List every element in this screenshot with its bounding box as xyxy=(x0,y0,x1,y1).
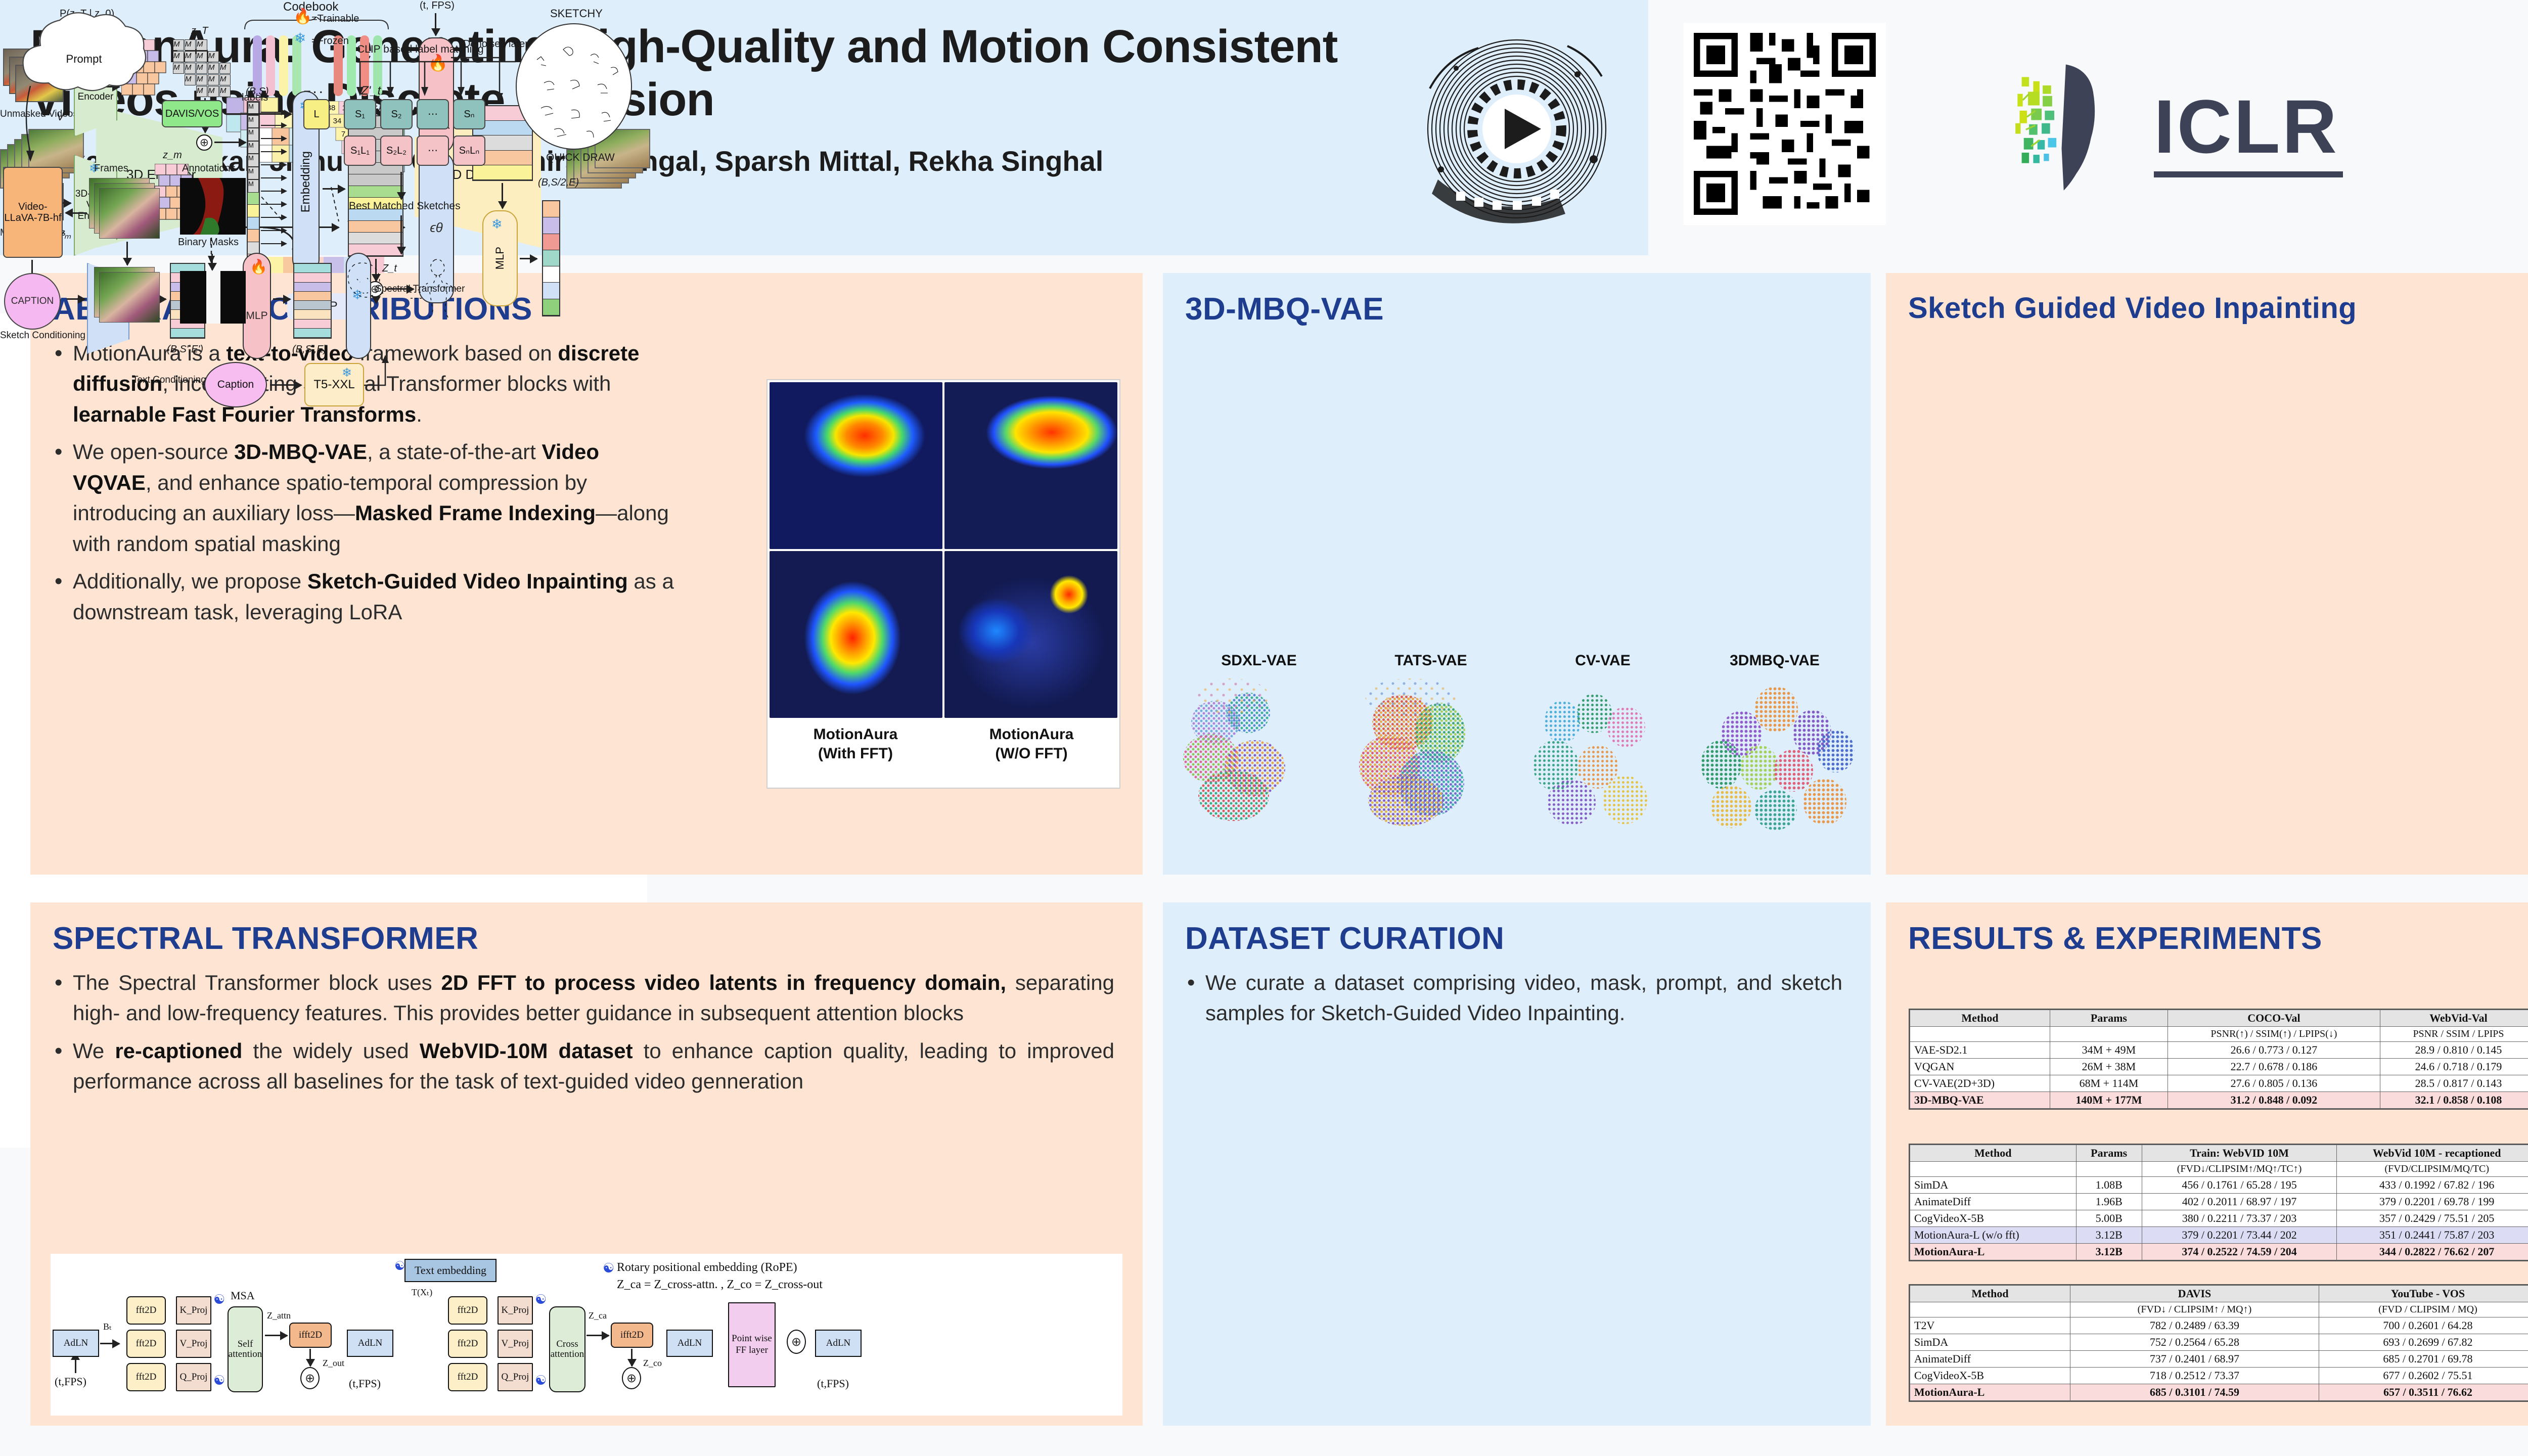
clip-matching-fanout xyxy=(354,57,521,98)
cell-davis: 782 / 0.2489 / 63.39 xyxy=(2070,1317,2319,1334)
cell-webvid: 28.5 / 0.817 / 0.143 xyxy=(2380,1075,2528,1092)
svg-text:34: 34 xyxy=(333,117,342,125)
qr-code-panel[interactable] xyxy=(1684,23,1886,225)
flame-icon: 🔥 xyxy=(293,9,312,24)
best-matched-label: Best Matched Sketches xyxy=(349,200,461,212)
quickdraw-label: QUICK DRAW xyxy=(546,152,615,164)
t-fps-arrow xyxy=(435,13,436,35)
sketch-node-sn: Sₙ xyxy=(453,99,485,129)
frame-thumb xyxy=(99,188,160,239)
col-webvid-val: WebVid-Val xyxy=(2380,1010,2528,1027)
bt-label: Bₜ xyxy=(103,1322,112,1332)
results-title: RESULTS & EXPERIMENTS xyxy=(1908,921,2528,957)
cell-train: 380 / 0.2211 / 73.37 / 203 xyxy=(2142,1210,2337,1227)
metric-coco: PSNR(↑) / SSIM(↑) / LPIPS(↓) xyxy=(2168,1027,2380,1042)
t5-xxl-block: T5-XXL xyxy=(304,363,364,406)
text-conditioning-label: Text Conditioning xyxy=(132,374,198,387)
cell-davis: 718 / 0.2512 / 73.37 xyxy=(2070,1368,2319,1384)
best-match-arrow xyxy=(400,215,402,254)
flame-icon: 🔥 xyxy=(250,260,267,274)
col-params: Params xyxy=(2076,1145,2142,1162)
panel-abstract: ABSTRACT & CONTRIBUTIONS MotionAura is a… xyxy=(30,273,1143,875)
flow-arrow xyxy=(309,1349,311,1366)
spectral-bullet: The Spectral Transformer block uses 2D F… xyxy=(53,968,1114,1029)
cell-method: AnimateDiff xyxy=(1910,1194,2076,1210)
annotations-label: Annotations xyxy=(182,163,236,174)
add-operator: ⊕ xyxy=(196,134,212,151)
z-ca-label: Z_ca xyxy=(589,1310,607,1321)
cell-method: CogVideoX-5B xyxy=(1910,1368,2070,1384)
spectral-transformer-diagram: (t,FPS) AdLN Bₜ fft2D fft2D fft2D K_Proj… xyxy=(51,1254,1122,1416)
frozen-legend-label: =Frozen xyxy=(311,35,349,47)
heatmap-caption-right: MotionAura(W/O FFT) xyxy=(943,720,1119,769)
cell-recap: 344 / 0.2822 / 76.62 / 207 xyxy=(2337,1244,2528,1260)
cell-train: 374 / 0.2522 / 74.59 / 204 xyxy=(2142,1244,2337,1260)
tsne-scatter-cvvae xyxy=(1522,669,1684,836)
caption-node: Caption xyxy=(204,362,267,407)
dataset-title: DATASET CURATION xyxy=(1185,921,1848,957)
table-row: MotionAura-L (w/o fft)3.12B379 / 0.2201 … xyxy=(1910,1227,2528,1244)
dataset-bullet: We curate a dataset comprising video, ma… xyxy=(1185,968,1842,1029)
flow-arrow xyxy=(273,298,290,300)
abstract-bullet: We open-source 3D-MBQ-VAE, a state-of-th… xyxy=(53,437,680,559)
k-proj-block: K_Proj xyxy=(498,1296,533,1325)
metric-blank xyxy=(1910,1302,2070,1317)
embedding-fan-arrows xyxy=(261,104,290,266)
tsne-panel-label: SDXL-VAE xyxy=(1178,652,1340,669)
cell-method: VQGAN xyxy=(1910,1059,2050,1075)
prompt-to-llava-arrow xyxy=(18,86,59,167)
z-co-label: Z_co xyxy=(643,1358,662,1369)
cell-recap: 351 / 0.2441 / 75.87 / 203 xyxy=(2337,1227,2528,1244)
cell-method: T2V xyxy=(1910,1317,2070,1334)
add-operator: ⊕ xyxy=(622,1367,641,1389)
add-operator: ⊕ xyxy=(787,1330,806,1354)
t-fps-label: (t,FPS) xyxy=(817,1377,849,1390)
fft2d-block: fft2D xyxy=(448,1296,487,1325)
t-fps-label: (t, FPS) xyxy=(420,0,455,12)
annotation-mask xyxy=(180,178,246,235)
clip-matching-label: CLIP based label matching xyxy=(357,43,484,56)
matched-node-snln: SₙLₙ xyxy=(453,135,485,166)
table-row: CV-VAE(2D+3D)68M + 114M27.6 / 0.805 / 0.… xyxy=(1910,1075,2528,1092)
rope-icon: ☯ xyxy=(394,1259,405,1273)
cell-recap: 379 / 0.2201 / 69.78 / 199 xyxy=(2337,1194,2528,1210)
panel-dataset-curation: DATASET CURATION We curate a dataset com… xyxy=(1163,902,1871,1426)
cell-method: CV-VAE(2D+3D) xyxy=(1910,1075,2050,1092)
flow-arrow xyxy=(265,1335,287,1336)
pointwise-ff-block: Point wise FF layer xyxy=(728,1302,776,1387)
vae-title: 3D-MBQ-VAE xyxy=(1185,291,1848,327)
tsne-comparison-row: SDXL-VAE TATS-VAE CV-VAE xyxy=(1178,652,1861,870)
col-params: Params xyxy=(2050,1010,2168,1027)
cell-webvid: 24.6 / 0.718 / 0.179 xyxy=(2380,1059,2528,1075)
to-mlp-arrow xyxy=(502,183,503,208)
table-row: MotionAura-L685 / 0.3101 / 74.59657 / 0.… xyxy=(1910,1384,2528,1401)
rope-legend-label: Rotary positional embedding (RoPE) xyxy=(617,1261,797,1275)
col-coco-val: COCO-Val xyxy=(2168,1010,2380,1027)
v-proj-block: V_Proj xyxy=(498,1330,533,1358)
flow-arrow xyxy=(100,1343,119,1344)
sketch-node-s2: S₂ xyxy=(380,99,413,129)
z-out-label: Z_out xyxy=(323,1358,344,1369)
k-proj-block: K_Proj xyxy=(176,1296,211,1325)
metric-recap: (FVD/CLIPSIM/MQ/TC) xyxy=(2337,1162,2528,1177)
caption-node: CAPTION xyxy=(4,273,61,330)
best-match-arrow xyxy=(400,172,402,199)
col-method: Method xyxy=(1910,1010,2050,1027)
metric-blank xyxy=(1910,1162,2076,1177)
cell-method: AnimateDiff xyxy=(1910,1351,2070,1368)
col-davis: DAVIS xyxy=(2070,1286,2319,1302)
col-webvid-recap: WebVid 10M - recaptioned xyxy=(2337,1145,2528,1162)
self-attention-block: Self attention xyxy=(228,1306,263,1392)
trainable-legend-label: =Trainable xyxy=(311,13,359,25)
binary-mask-image xyxy=(180,271,246,324)
heatmap-cell-object-with-fft xyxy=(770,551,942,718)
sketch-title: Sketch Guided Video Inpainting xyxy=(1908,291,2528,325)
rope-icon: ☯ xyxy=(603,1261,614,1276)
fft2d-block: fft2D xyxy=(126,1296,166,1325)
cell-method: MotionAura-L xyxy=(1910,1244,2076,1260)
snowflake-icon: ❄ xyxy=(491,217,503,231)
results-table-inpainting: Method DAVIS YouTube - VOS (FVD↓ / CLIPS… xyxy=(1909,1284,2528,1402)
snowflake-icon: ❄ xyxy=(294,31,306,45)
cell-params: 68M + 114M xyxy=(2050,1075,2168,1092)
rope-icon: ☯ xyxy=(213,1373,225,1388)
fft2d-block: fft2D xyxy=(126,1363,166,1391)
heatmap-caption-left: MotionAura(With FFT) xyxy=(768,720,943,769)
bs2e-shape-label: (B,S/2,E) xyxy=(538,177,579,189)
cell-params: 1.96B xyxy=(2076,1194,2142,1210)
cell-params: 3.12B xyxy=(2076,1227,2142,1244)
tsne-panel-label: CV-VAE xyxy=(1522,652,1684,669)
text-embedding-block: Text embedding xyxy=(404,1259,496,1282)
video-llava-block: Video-LLaVA-7B-hf xyxy=(3,167,63,258)
table-row: SimDA752 / 0.2564 / 65.28693 / 0.2699 / … xyxy=(1910,1334,2528,1351)
matched-node-ellipsis: ⋯ xyxy=(417,135,449,166)
results-table-vae: Method Params COCO-Val WebVid-Val PSNR(↑… xyxy=(1909,1009,2528,1110)
t5-to-spectral-arrow xyxy=(362,354,397,389)
metric-blank xyxy=(2050,1027,2168,1042)
cell-train: 379 / 0.2201 / 73.44 / 202 xyxy=(2142,1227,2337,1244)
table2-body: SimDA1.08B456 / 0.1761 / 65.28 / 195433 … xyxy=(1910,1177,2528,1260)
ifft2d-block: ifft2D xyxy=(611,1323,653,1348)
table3-body: T2V782 / 0.2489 / 63.39700 / 0.2601 / 64… xyxy=(1910,1317,2528,1401)
cell-method: MotionAura-L xyxy=(1910,1384,2070,1401)
binary-masks-label: Binary Masks xyxy=(178,237,239,248)
metric-train: (FVD↓/CLIPSIM↑/MQ↑/TC↑) xyxy=(2142,1162,2337,1177)
sketch-node-ellipsis: ⋯ xyxy=(417,99,449,129)
metric-ytvos: (FVD / CLIPSIM / MQ) xyxy=(2319,1302,2528,1317)
labels-arrow xyxy=(225,113,291,115)
table-header-row: Method DAVIS YouTube - VOS xyxy=(1910,1286,2528,1302)
t-fps-label: (t,FPS) xyxy=(55,1375,86,1388)
cell-params: 26M + 38M xyxy=(2050,1059,2168,1075)
add-operator: ⊕ xyxy=(300,1367,320,1389)
fft2d-block: fft2D xyxy=(448,1363,487,1391)
heatmap-cell-dog-with-fft xyxy=(770,382,942,549)
sketch-conditioning-label: Sketch Conditioning xyxy=(0,330,66,342)
flow-arrow xyxy=(270,384,301,386)
tsne-scatter-sdxl xyxy=(1178,669,1340,836)
table-row: MotionAura-L3.12B374 / 0.2522 / 74.59 / … xyxy=(1910,1244,2528,1260)
cell-webvid: 28.9 / 0.810 / 0.145 xyxy=(2380,1042,2528,1059)
cell-ytvos: 693 / 0.2699 / 67.82 xyxy=(2319,1334,2528,1351)
cell-davis: 752 / 0.2564 / 65.28 xyxy=(2070,1334,2319,1351)
q-proj-block: Q_Proj xyxy=(176,1363,211,1391)
embedding-label: Embedding xyxy=(299,151,313,212)
table-row: T2V782 / 0.2489 / 63.39700 / 0.2601 / 64… xyxy=(1910,1317,2528,1334)
iclr-wordmark: ICLR xyxy=(2154,88,2339,164)
table-row: VQGAN26M + 38M22.7 / 0.678 / 0.18624.6 /… xyxy=(1910,1059,2528,1075)
tsne-panel: 3DMBQ-VAE xyxy=(1694,652,1856,844)
col-method: Method xyxy=(1910,1286,2070,1302)
sketch-projected-strip xyxy=(293,263,332,339)
cell-webvid: 32.1 / 0.858 / 0.108 xyxy=(2380,1092,2528,1109)
t-fps-label: (t,FPS) xyxy=(349,1377,381,1390)
sketchy-quickdraw-pool xyxy=(516,23,632,150)
txt-label: T(Xₜ) xyxy=(412,1287,432,1298)
heatmap-cell-object-wo-fft xyxy=(944,551,1117,718)
adln-block-1: AdLN xyxy=(53,1330,99,1357)
adln-block-2: AdLN xyxy=(347,1330,393,1357)
matched-node-s1l1: S₁L₁ xyxy=(344,135,376,166)
col-method: Method xyxy=(1910,1145,2076,1162)
table-row: CogVideoX-5B718 / 0.2512 / 73.37677 / 0.… xyxy=(1910,1368,2528,1384)
cell-params: 34M + 49M xyxy=(2050,1042,2168,1059)
matched-node-s2l2: S₂L₂ xyxy=(380,135,413,166)
film-reel-play-logo xyxy=(1416,28,1618,230)
cell-method: SimDA xyxy=(1910,1177,2076,1194)
fft2d-block: fft2D xyxy=(126,1330,166,1358)
codebook-bar xyxy=(279,35,288,96)
cell-train: 402 / 0.2011 / 68.97 / 197 xyxy=(2142,1194,2337,1210)
cell-params: 5.00B xyxy=(2076,1210,2142,1227)
davis-vos-node: DAVIS/VOS xyxy=(162,100,222,127)
cell-davis: 685 / 0.3101 / 74.59 xyxy=(2070,1384,2319,1401)
tsne-panel-label: 3DMBQ-VAE xyxy=(1694,652,1856,669)
q-proj-block: Q_Proj xyxy=(498,1363,533,1391)
iclr-brain-icon xyxy=(2002,58,2134,195)
zm-label: z_m xyxy=(163,150,182,161)
flow-arrow xyxy=(586,1335,609,1336)
spectral-bullet: We re-captioned the widely used WebVID-1… xyxy=(53,1036,1114,1097)
col-youtube-vos: YouTube - VOS xyxy=(2319,1286,2528,1302)
adln-block-4: AdLN xyxy=(815,1330,862,1357)
results-table-t2v: Method Params Train: WebVID 10M WebVid 1… xyxy=(1909,1144,2528,1261)
tsne-scatter-tats xyxy=(1350,669,1512,836)
snowflake-icon: ❄ xyxy=(342,367,352,379)
rope-icon: ☯ xyxy=(213,1292,225,1307)
labels-edge-label: labels xyxy=(242,92,268,104)
panel-sketch-inpainting: Sketch Guided Video Inpainting xyxy=(1886,273,2528,875)
table-row: SimDA1.08B456 / 0.1761 / 65.28 / 195433 … xyxy=(1910,1177,2528,1194)
label-node-L: L xyxy=(303,99,330,129)
token-sequence-strip: MM MM MM M xyxy=(247,101,260,268)
sketch-samples-cluster xyxy=(517,24,633,151)
ifft2d-block: ifft2D xyxy=(289,1323,332,1348)
cell-method: CogVideoX-5B xyxy=(1910,1210,2076,1227)
z-attn-label: Z_attn xyxy=(267,1310,291,1321)
attention-heatmap-figure: MotionAura(With FFT) MotionAura(W/O FFT) xyxy=(766,379,1120,789)
qr-code[interactable] xyxy=(1694,33,1876,215)
cell-method: VAE-SD2.1 xyxy=(1910,1042,2050,1059)
tsne-scatter-3dmbq xyxy=(1694,669,1856,836)
metric-blank xyxy=(2076,1162,2142,1177)
metric-davis: (FVD↓ / CLIPSIM↑ / MQ↑) xyxy=(2070,1302,2319,1317)
cell-recap: 357 / 0.2429 / 75.51 / 205 xyxy=(2337,1210,2528,1227)
msa-label: MSA xyxy=(231,1289,255,1302)
flow-arrow xyxy=(67,298,85,300)
output-token-strip xyxy=(542,200,560,316)
cell-ytvos: 685 / 0.2701 / 69.78 xyxy=(2319,1351,2528,1368)
cell-ytvos: 657 / 0.3511 / 76.62 xyxy=(2319,1384,2528,1401)
masked-token-grid: MMM MMMM MMMMM MMMM MMM xyxy=(173,39,231,97)
metric-webvid: PSNR / SSIM / LPIPS xyxy=(2380,1027,2528,1042)
tsne-panel: TATS-VAE xyxy=(1350,652,1512,844)
bs-e-prime-label: (B,S',E') xyxy=(167,344,203,355)
bs-e-label: (B,S',E) xyxy=(292,344,327,355)
cell-ytvos: 677 / 0.2602 / 75.51 xyxy=(2319,1368,2528,1384)
flow-arrow xyxy=(214,142,246,143)
table1-body: VAE-SD2.134M + 49M26.6 / 0.773 / 0.12728… xyxy=(1910,1042,2528,1109)
table-row: 3D-MBQ-VAE140M + 177M31.2 / 0.848 / 0.09… xyxy=(1910,1092,2528,1109)
table-header-row: Method Params Train: WebVID 10M WebVid 1… xyxy=(1910,1145,2528,1162)
table-header-row: Method Params COCO-Val WebVid-Val xyxy=(1910,1010,2528,1027)
iclr-logo: ICLR xyxy=(2002,51,2528,202)
heatmap-cell-dog-wo-fft xyxy=(944,382,1117,549)
table-metric-row: (FVD↓/CLIPSIM↑/MQ↑/TC↑) (FVD/CLIPSIM/MQ/… xyxy=(1910,1162,2528,1177)
rope-icon: ☯ xyxy=(535,1373,547,1388)
sketchy-label: SKETCHY xyxy=(550,7,603,20)
table-row: VAE-SD2.134M + 49M26.6 / 0.773 / 0.12728… xyxy=(1910,1042,2528,1059)
cell-ytvos: 700 / 0.2601 / 64.28 xyxy=(2319,1317,2528,1334)
rope-equation-label: Z_ca = Z_cross-attn. , Z_co = Z_cross-ou… xyxy=(617,1278,823,1292)
frame-thumb xyxy=(99,272,160,323)
table-metric-row: (FVD↓ / CLIPSIM↑ / MQ↑) (FVD / CLIPSIM /… xyxy=(1910,1302,2528,1317)
frames-label: Frames xyxy=(94,163,128,174)
cell-coco: 22.7 / 0.678 / 0.186 xyxy=(2168,1059,2380,1075)
fft2d-block: fft2D xyxy=(448,1330,487,1358)
epsilon-theta-label: ϵθ xyxy=(430,220,443,236)
abstract-bullet: Additionally, we propose Sketch-Guided V… xyxy=(53,566,680,627)
cell-coco: 26.6 / 0.773 / 0.127 xyxy=(2168,1042,2380,1059)
tsne-panel-label: TATS-VAE xyxy=(1350,652,1512,669)
frames-down-arrow xyxy=(126,242,128,265)
best-matched-sketch-examples xyxy=(334,253,495,318)
cell-coco: 27.6 / 0.805 / 0.136 xyxy=(2168,1075,2380,1092)
tsne-panel: CV-VAE xyxy=(1522,652,1684,844)
col-train-webvid: Train: WebVID 10M xyxy=(2142,1145,2337,1162)
frames-to-llava-arrow xyxy=(66,212,87,214)
cross-attention-block: Cross attention xyxy=(549,1306,585,1392)
cell-davis: 737 / 0.2401 / 68.97 xyxy=(2070,1351,2319,1368)
table-row: AnimateDiff737 / 0.2401 / 68.97685 / 0.2… xyxy=(1910,1351,2528,1368)
v-proj-block: V_Proj xyxy=(176,1330,211,1358)
spectral-title: SPECTRAL TRANSFORMER xyxy=(53,921,1120,957)
table-row: CogVideoX-5B5.00B380 / 0.2211 / 73.37 / … xyxy=(1910,1210,2528,1227)
zT-label: z_T xyxy=(191,25,208,37)
cell-method: SimDA xyxy=(1910,1334,2070,1351)
adln-block-3: AdLN xyxy=(666,1330,713,1357)
sketch-mlp-label: MLP xyxy=(246,310,267,322)
flow-arrow xyxy=(631,1349,633,1366)
cell-params: 1.08B xyxy=(2076,1177,2142,1194)
flow-arrow xyxy=(323,188,345,190)
flow-arrow xyxy=(520,258,537,259)
cell-method: MotionAura-L (w/o fft) xyxy=(1910,1227,2076,1244)
cell-train: 456 / 0.1761 / 65.28 / 195 xyxy=(2142,1177,2337,1194)
masks-down-arrow xyxy=(211,254,213,270)
sketch-node-s1: S₁ xyxy=(344,99,376,129)
cell-method: 3D-MBQ-VAE xyxy=(1910,1092,2050,1109)
cell-params: 140M + 177M xyxy=(2050,1092,2168,1109)
tsne-panel: SDXL-VAE xyxy=(1178,652,1340,844)
table-metric-row: PSNR(↑) / SSIM(↑) / LPIPS(↓) PSNR / SSIM… xyxy=(1910,1027,2528,1042)
table-row: AnimateDiff1.96B402 / 0.2011 / 68.97 / 1… xyxy=(1910,1194,2528,1210)
cell-recap: 433 / 0.1992 / 67.82 / 196 xyxy=(2337,1177,2528,1194)
cell-params: 3.12B xyxy=(2076,1244,2142,1260)
svg-text:Prompt: Prompt xyxy=(66,53,102,65)
cell-coco: 31.2 / 0.848 / 0.092 xyxy=(2168,1092,2380,1109)
rope-icon: ☯ xyxy=(535,1292,547,1307)
metric-blank xyxy=(1910,1027,2050,1042)
